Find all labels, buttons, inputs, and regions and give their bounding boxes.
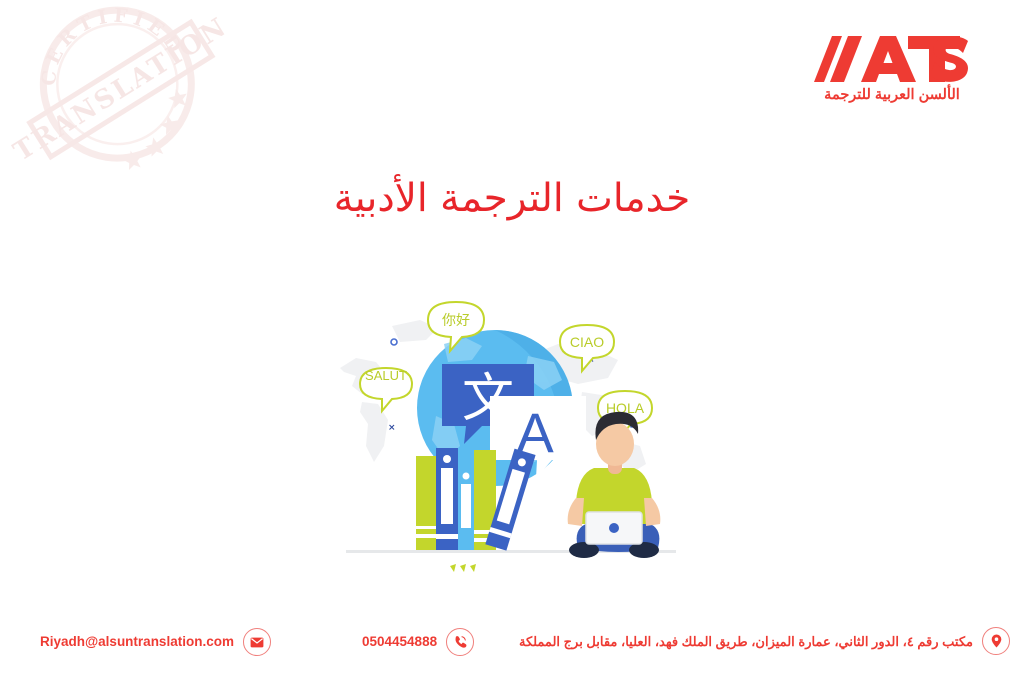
arm-left <box>568 498 584 526</box>
logo-subtitle: الألسن العربية للترجمة <box>812 87 972 103</box>
speech-bubble-label: 你好 <box>442 313 470 329</box>
translation-illustration: × × SALUT 你 <box>332 298 692 588</box>
page-title: خدمات الترجمة الأدبية <box>0 176 1024 221</box>
speech-bubble-label: CIAO <box>570 334 604 350</box>
phone-icon <box>446 628 474 656</box>
footer-address-text: مكتب رقم ٤، الدور الثاني، عمارة الميزان،… <box>519 635 973 648</box>
footer-phone[interactable]: 0504454888 <box>362 628 474 656</box>
arm-right <box>644 498 660 526</box>
envelope-icon <box>243 628 271 656</box>
stamp-top-text: CERTIFIED <box>24 2 191 92</box>
illustration-svg: × × SALUT 你 <box>332 298 692 588</box>
laptop-logo <box>609 523 619 533</box>
stamp-banner-text: TRANSLATION <box>9 12 228 168</box>
footer-email-text: Riyadh@alsuntranslation.com <box>40 635 234 649</box>
location-pin-icon <box>982 627 1010 655</box>
speech-bubble-label: SALUT <box>365 368 407 383</box>
green-ticks <box>450 564 476 572</box>
footer-contact-bar: Riyadh@alsuntranslation.com 0504454888 <box>0 610 1024 682</box>
book-stack <box>416 448 536 551</box>
stamp-stars <box>110 87 201 171</box>
footer-address: مكتب رقم ٤، الدور الثاني، عمارة الميزان،… <box>519 627 1010 655</box>
footer-email[interactable]: Riyadh@alsuntranslation.com <box>40 628 271 656</box>
certified-translation-stamp-watermark: CERTIFIED TRANSLATION <box>8 2 228 172</box>
ats-logo-mark <box>812 32 972 86</box>
footer-phone-text: 0504454888 <box>362 635 437 649</box>
company-logo[interactable]: الألسن العربية للترجمة <box>812 32 972 103</box>
svg-text:×: × <box>388 423 396 433</box>
stamp-svg: CERTIFIED TRANSLATION <box>8 2 228 172</box>
slide-page: CERTIFIED TRANSLATION <box>0 0 1024 682</box>
